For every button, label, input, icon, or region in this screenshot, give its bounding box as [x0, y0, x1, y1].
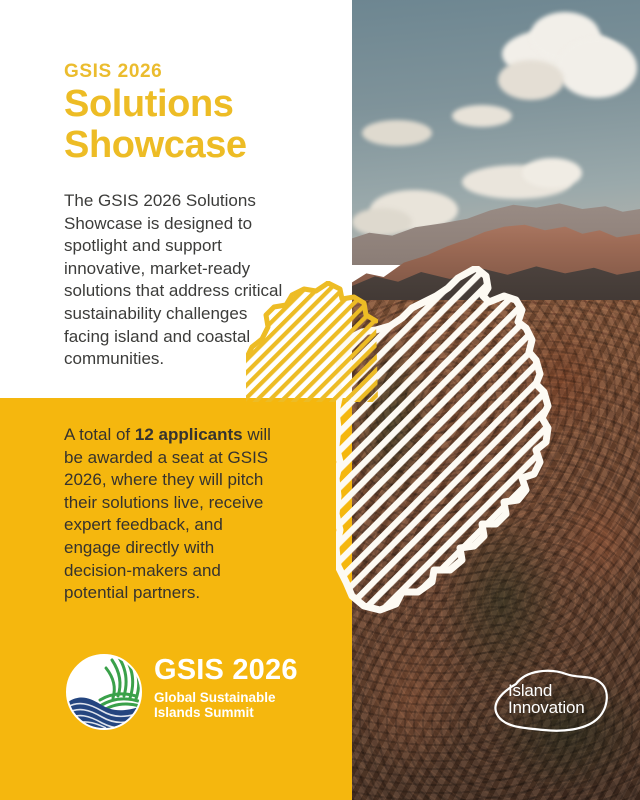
gsis-logo-subtitle-line2: Islands Summit	[154, 705, 298, 720]
applicants-pre-text: A total of	[64, 425, 135, 444]
gsis-logo: GSIS 2026 Global Sustainable Islands Sum…	[66, 650, 316, 734]
gsis-logo-subtitle: Global Sustainable Islands Summit	[154, 690, 298, 721]
cloud-shape	[522, 158, 582, 188]
gsis-logo-title: GSIS 2026	[154, 656, 298, 685]
cloud-shape	[557, 38, 637, 98]
applicants-post-text: will be awarded a seat at GSIS 2026, whe…	[64, 425, 271, 602]
page-title: Solutions Showcase	[64, 84, 334, 166]
gsis-logo-wordmark: GSIS 2026 Global Sustainable Islands Sum…	[154, 656, 298, 721]
island-innovation-logo: Island Innovation	[492, 666, 610, 738]
cloud-shape	[452, 105, 512, 127]
kicker-label: GSIS 2026	[64, 62, 162, 81]
intro-paragraph: The GSIS 2026 Solutions Showcase is desi…	[64, 190, 290, 371]
island-innovation-line1: Island	[508, 682, 602, 699]
cloud-shape	[362, 120, 432, 146]
applicants-count-bold: 12 applicants	[135, 425, 243, 444]
island-innovation-line2: Innovation	[508, 699, 602, 716]
applicants-paragraph: A total of 12 applicants will be awarded…	[64, 424, 274, 605]
gsis-circle-emblem-icon	[66, 654, 142, 730]
poster-canvas: GSIS 2026 Solutions Showcase The GSIS 20…	[0, 0, 640, 800]
island-innovation-wordmark: Island Innovation	[508, 682, 602, 717]
cloud-shape	[498, 60, 564, 100]
gsis-logo-subtitle-line1: Global Sustainable	[154, 690, 298, 705]
